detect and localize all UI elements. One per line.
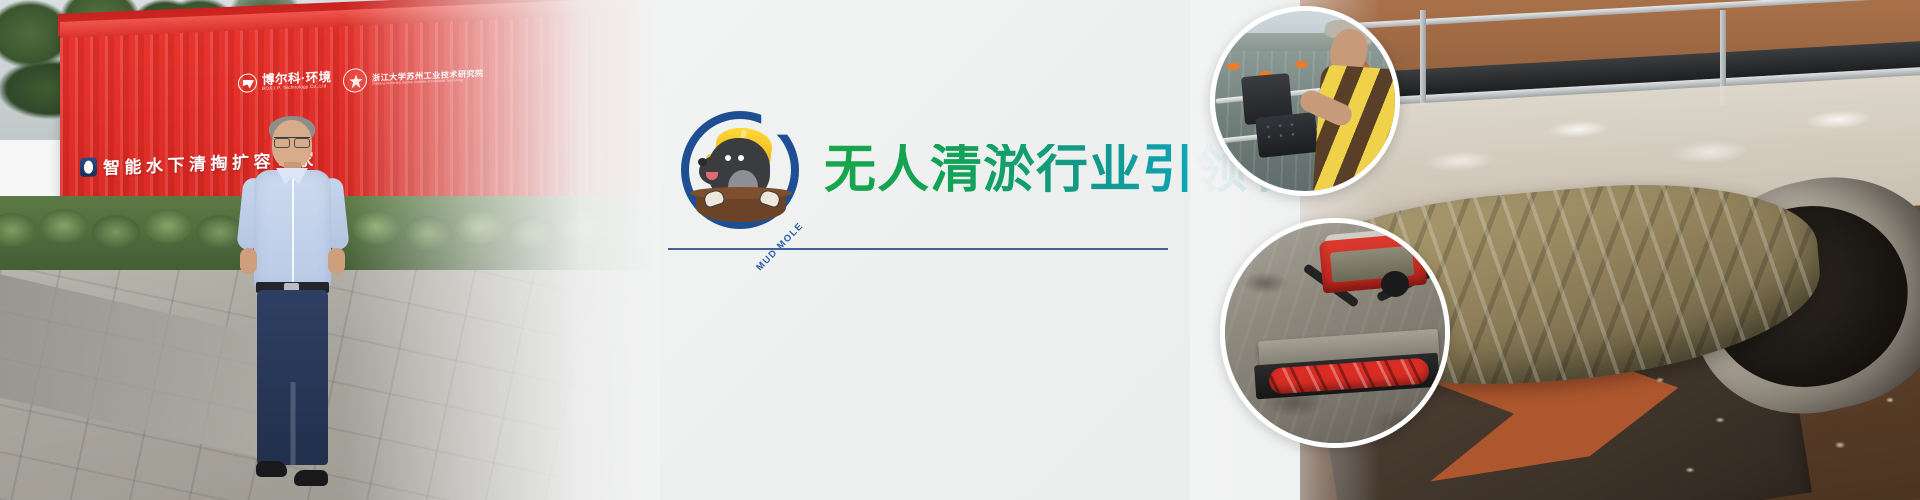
c2-robot-body <box>1319 233 1427 294</box>
institute-name-cn: 浙江大学苏州工业技术研究院Zhejiang University Suzhou … <box>372 69 484 86</box>
c1-operator <box>1315 19 1400 196</box>
person-right-hand <box>328 248 345 274</box>
mud-mole-logo: MUD MOLE <box>678 108 802 232</box>
mole-eye-left-icon <box>725 155 731 161</box>
c1-float-buoy <box>1295 61 1308 68</box>
headline-divider <box>668 248 1168 250</box>
person-left-hand <box>240 248 257 274</box>
logo-arc-text: MUD MOLE <box>754 220 806 273</box>
institute-name-en: Zhejiang University Suzhou Institute of … <box>372 78 484 86</box>
person-shirt <box>254 170 331 288</box>
dredging-robot-photo <box>1220 218 1450 448</box>
person-left-shoe <box>256 461 287 477</box>
handrail-post-left <box>1420 10 1426 105</box>
operator-console-photo <box>1210 6 1400 196</box>
eyeglasses-icon <box>274 137 310 145</box>
c1-control-panel <box>1255 112 1319 158</box>
person-jeans <box>257 290 328 465</box>
center-content: MUD MOLE 无人清淤行业引领者 <box>660 0 1260 500</box>
slogan-badge-icon <box>80 157 97 177</box>
c1-float-buoy <box>1227 63 1240 70</box>
c1-striped-shirt <box>1313 64 1400 196</box>
hero-banner: 博尔科·环境BOX.I.P. Technology Co.,Ltd 浙江大学苏州… <box>0 0 1920 500</box>
right-imagery-group <box>1190 0 1920 500</box>
institute-seal-icon <box>343 68 367 93</box>
mole-nose-icon <box>698 158 707 166</box>
brand-name-cn: 博尔科·环境BOX.I.P. Technology Co.,Ltd <box>262 71 332 92</box>
person-portrait <box>232 120 352 500</box>
mole-eye-right-icon <box>738 155 744 161</box>
left-photo-container-and-person: 博尔科·环境BOX.I.P. Technology Co.,Ltd 浙江大学苏州… <box>0 0 660 500</box>
container-brand-logo: 博尔科·环境BOX.I.P. Technology Co.,Ltd <box>238 70 332 93</box>
person-right-shoe <box>294 470 328 486</box>
brand-mark-icon <box>238 73 257 93</box>
